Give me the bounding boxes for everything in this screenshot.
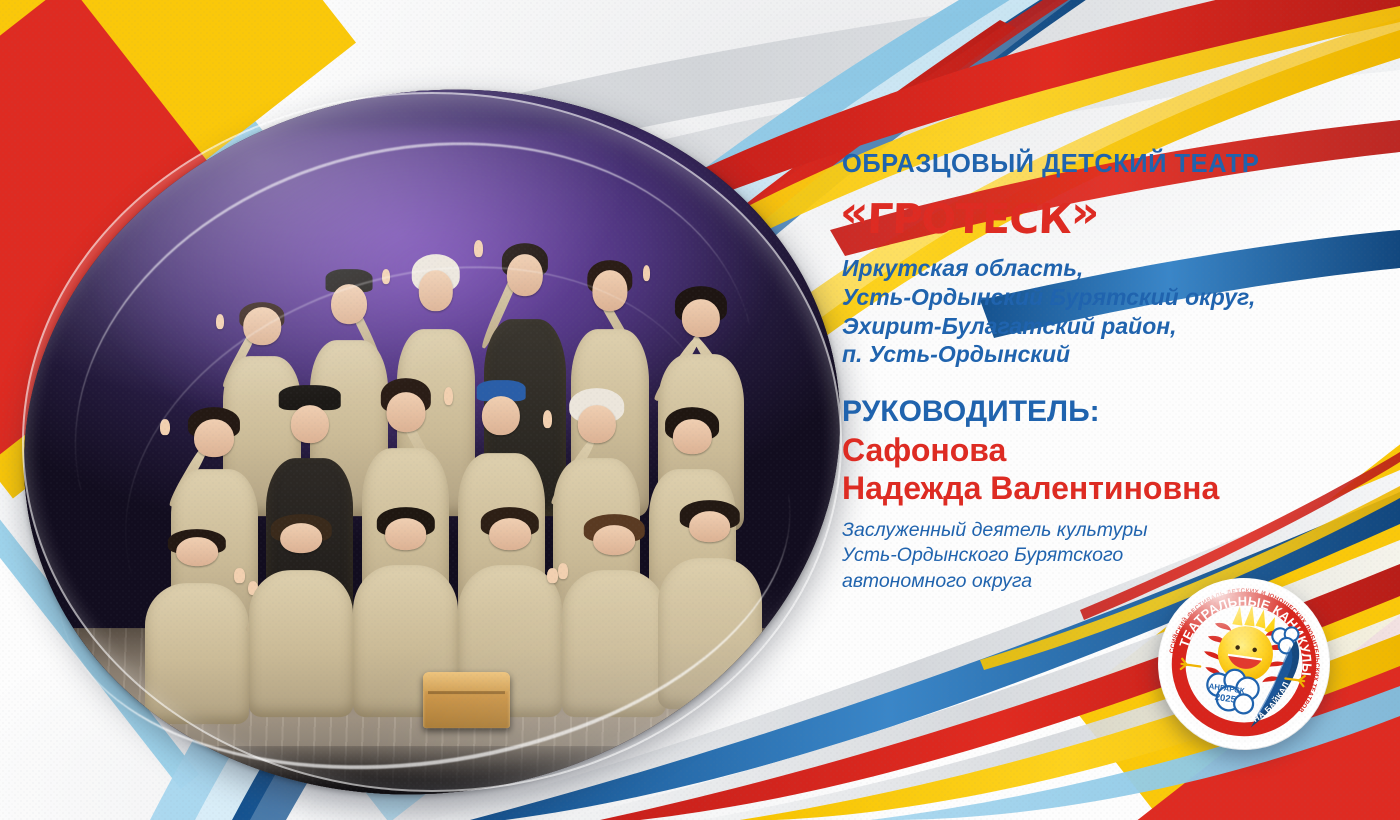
location-line: Усть-Ордынский Бурятский округ, xyxy=(842,284,1255,310)
leader-name-line: Надежда Валентиновна xyxy=(842,470,1219,506)
leader-name-line: Сафонова xyxy=(842,432,1006,468)
theatre-name-text: Гротеск xyxy=(866,179,1072,247)
troupe-photo xyxy=(22,92,842,792)
leader-credit-line: Заслуженный деятель культуры xyxy=(842,519,1148,541)
location-line: п. Усть-Ордынский xyxy=(842,341,1070,367)
prop-wooden-chest xyxy=(423,672,510,728)
performer xyxy=(145,516,249,724)
performer xyxy=(249,501,353,716)
performers-group xyxy=(0,71,867,813)
location-line: Иркутская область, xyxy=(842,255,1083,281)
leader-credit: Заслуженный деятель культуры Усть-Ордынс… xyxy=(842,518,1362,595)
location-line: Эхирит-Булагатский район, xyxy=(842,313,1177,339)
open-quote: « xyxy=(839,187,868,238)
leader-credit-line: Усть-Ордынского Бурятского xyxy=(842,544,1123,566)
photo-content xyxy=(0,71,867,813)
theatre-type-label: ОБРАЗЦОВЫЙ ДЕТСКИЙ ТЕАТР xyxy=(842,150,1362,178)
poster-canvas: ОБРАЗЦОВЫЙ ДЕТСКИЙ ТЕАТР «Гротеск» Иркут… xyxy=(0,0,1400,820)
leader-label: РУКОВОДИТЕЛЬ: xyxy=(842,395,1362,428)
leader-name: Сафонова Надежда Валентиновна xyxy=(842,432,1362,508)
info-block: ОБРАЗЦОВЫЙ ДЕТСКИЙ ТЕАТР «Гротеск» Иркут… xyxy=(842,150,1362,595)
theatre-name: «Гротеск» xyxy=(839,184,1100,242)
performer xyxy=(658,487,762,710)
location-text: Иркутская область, Усть-Ордынский Бурятс… xyxy=(842,254,1362,369)
leader-credit-line: автономного округа xyxy=(842,570,1032,592)
close-quote: » xyxy=(1070,187,1099,238)
performer xyxy=(562,501,666,716)
photo-oval-frame xyxy=(0,20,901,820)
